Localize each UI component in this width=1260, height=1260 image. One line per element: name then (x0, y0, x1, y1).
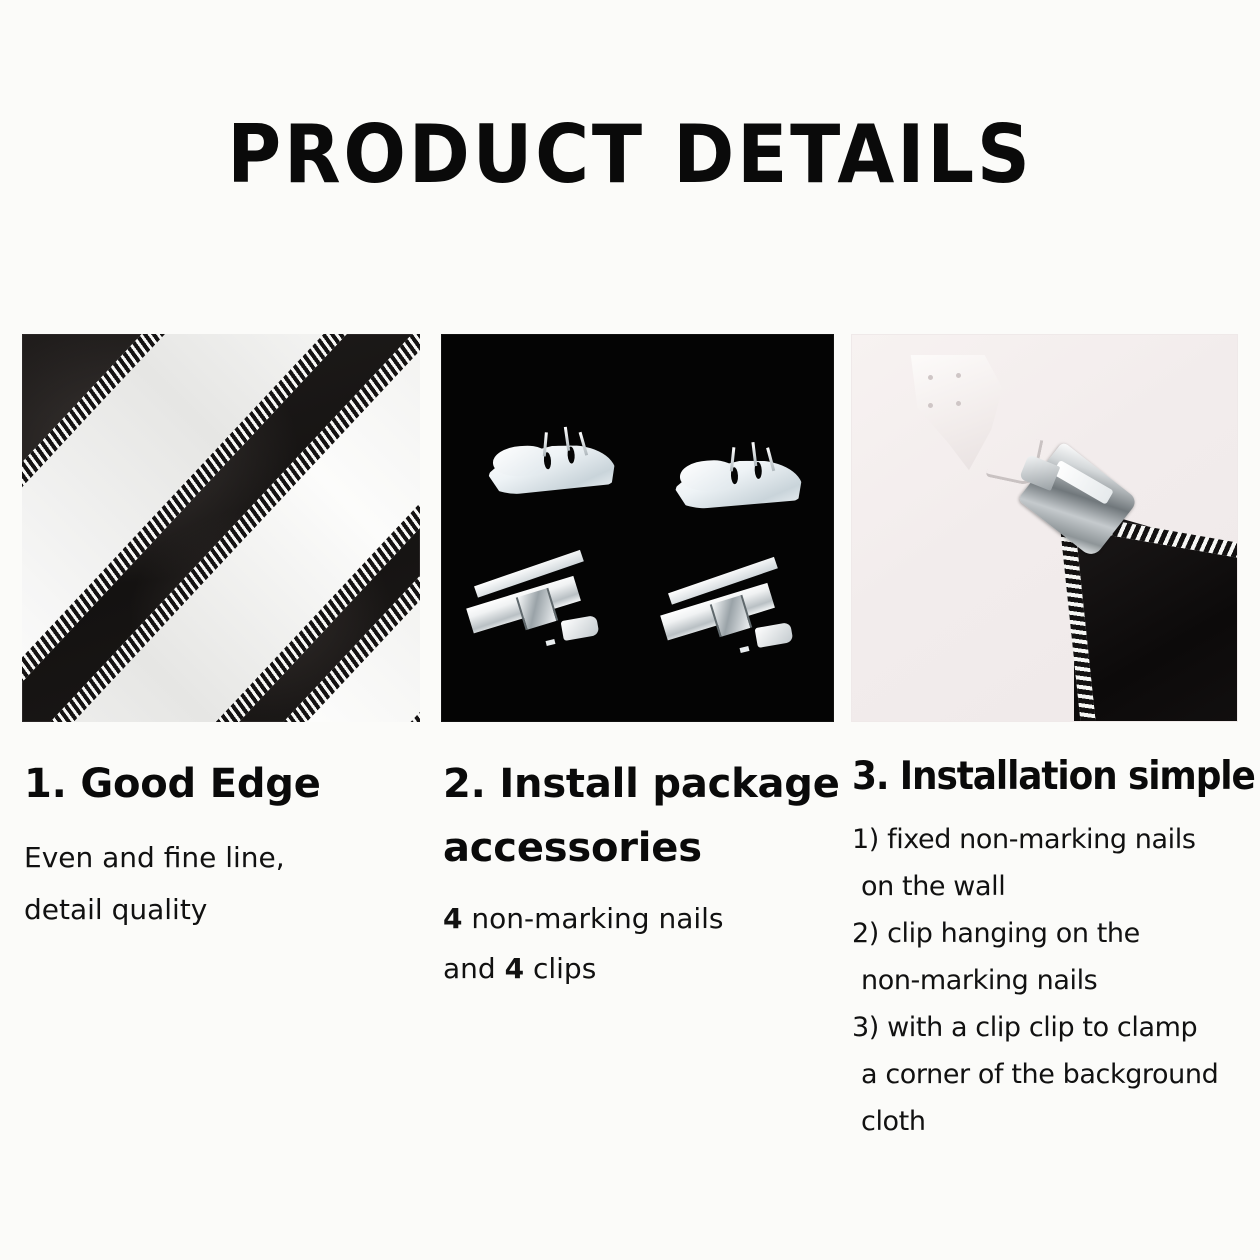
clip-highlight (546, 639, 556, 646)
nail-bump (679, 459, 736, 492)
product-image-panels (0, 334, 1260, 724)
panel-image-good-edge (22, 334, 420, 722)
caption-line: 4 non-marking nails (443, 894, 843, 944)
caption-count: 4 (443, 902, 462, 935)
panel-image-installation (851, 334, 1238, 722)
nail-pin-hole (928, 403, 933, 408)
accessories-photo (441, 334, 834, 722)
caption-heading-line: accessories (443, 816, 843, 880)
caption-heading-line: 2. Install package (443, 752, 843, 816)
caption-heading: 2. Install package accessories (443, 752, 843, 880)
caption-good-edge: 1. Good Edge Even and fine line, detail … (24, 752, 424, 936)
caption-text: non-marking nails (462, 902, 723, 935)
nail-pin-hole (956, 373, 961, 378)
caption-text: and (443, 952, 505, 985)
caption-line: non-marking nails (852, 957, 1252, 1004)
nail-pin-hole (956, 401, 961, 406)
caption-installation-simple: 3. Installation simple 1) fixed non-mark… (852, 752, 1252, 1145)
caption-text: clips (524, 952, 596, 985)
caption-install-package: 2. Install package accessories 4 non-mar… (443, 752, 843, 994)
installation-photo (851, 334, 1238, 722)
caption-body: 1) fixed non-marking nailson the wall2) … (852, 816, 1252, 1145)
non-marking-nail-icon (485, 426, 617, 497)
nail-pin-hole (928, 375, 933, 380)
caption-heading: 1. Good Edge (24, 752, 424, 816)
clamp-clip-icon (664, 585, 814, 669)
caption-line: detail quality (24, 884, 424, 936)
caption-count: 4 (505, 952, 524, 985)
clamp-clip-icon (470, 578, 620, 662)
caption-line: cloth (852, 1098, 1252, 1145)
caption-body: 4 non-marking nailsand 4 clips (443, 894, 843, 994)
clip-highlight (740, 646, 750, 653)
panel-image-accessories (441, 334, 834, 722)
page-title: PRODUCT DETAILS (50, 112, 1209, 198)
caption-heading: 3. Installation simple (852, 752, 1220, 802)
caption-body: Even and fine line, detail quality (24, 832, 424, 936)
caption-line: 2) clip hanging on the (852, 910, 1252, 957)
caption-line: Even and fine line, (24, 832, 424, 884)
non-marking-nail-icon (672, 442, 803, 511)
caption-line: and 4 clips (443, 944, 843, 994)
caption-line: a corner of the background (852, 1051, 1252, 1098)
caption-line: 3) with a clip clip to clamp (852, 1004, 1252, 1051)
clip-tail (561, 615, 600, 641)
fabric-edge-photo (22, 334, 420, 722)
caption-line: on the wall (852, 863, 1252, 910)
clip-tail (755, 622, 794, 648)
caption-line: 1) fixed non-marking nails (852, 816, 1252, 863)
